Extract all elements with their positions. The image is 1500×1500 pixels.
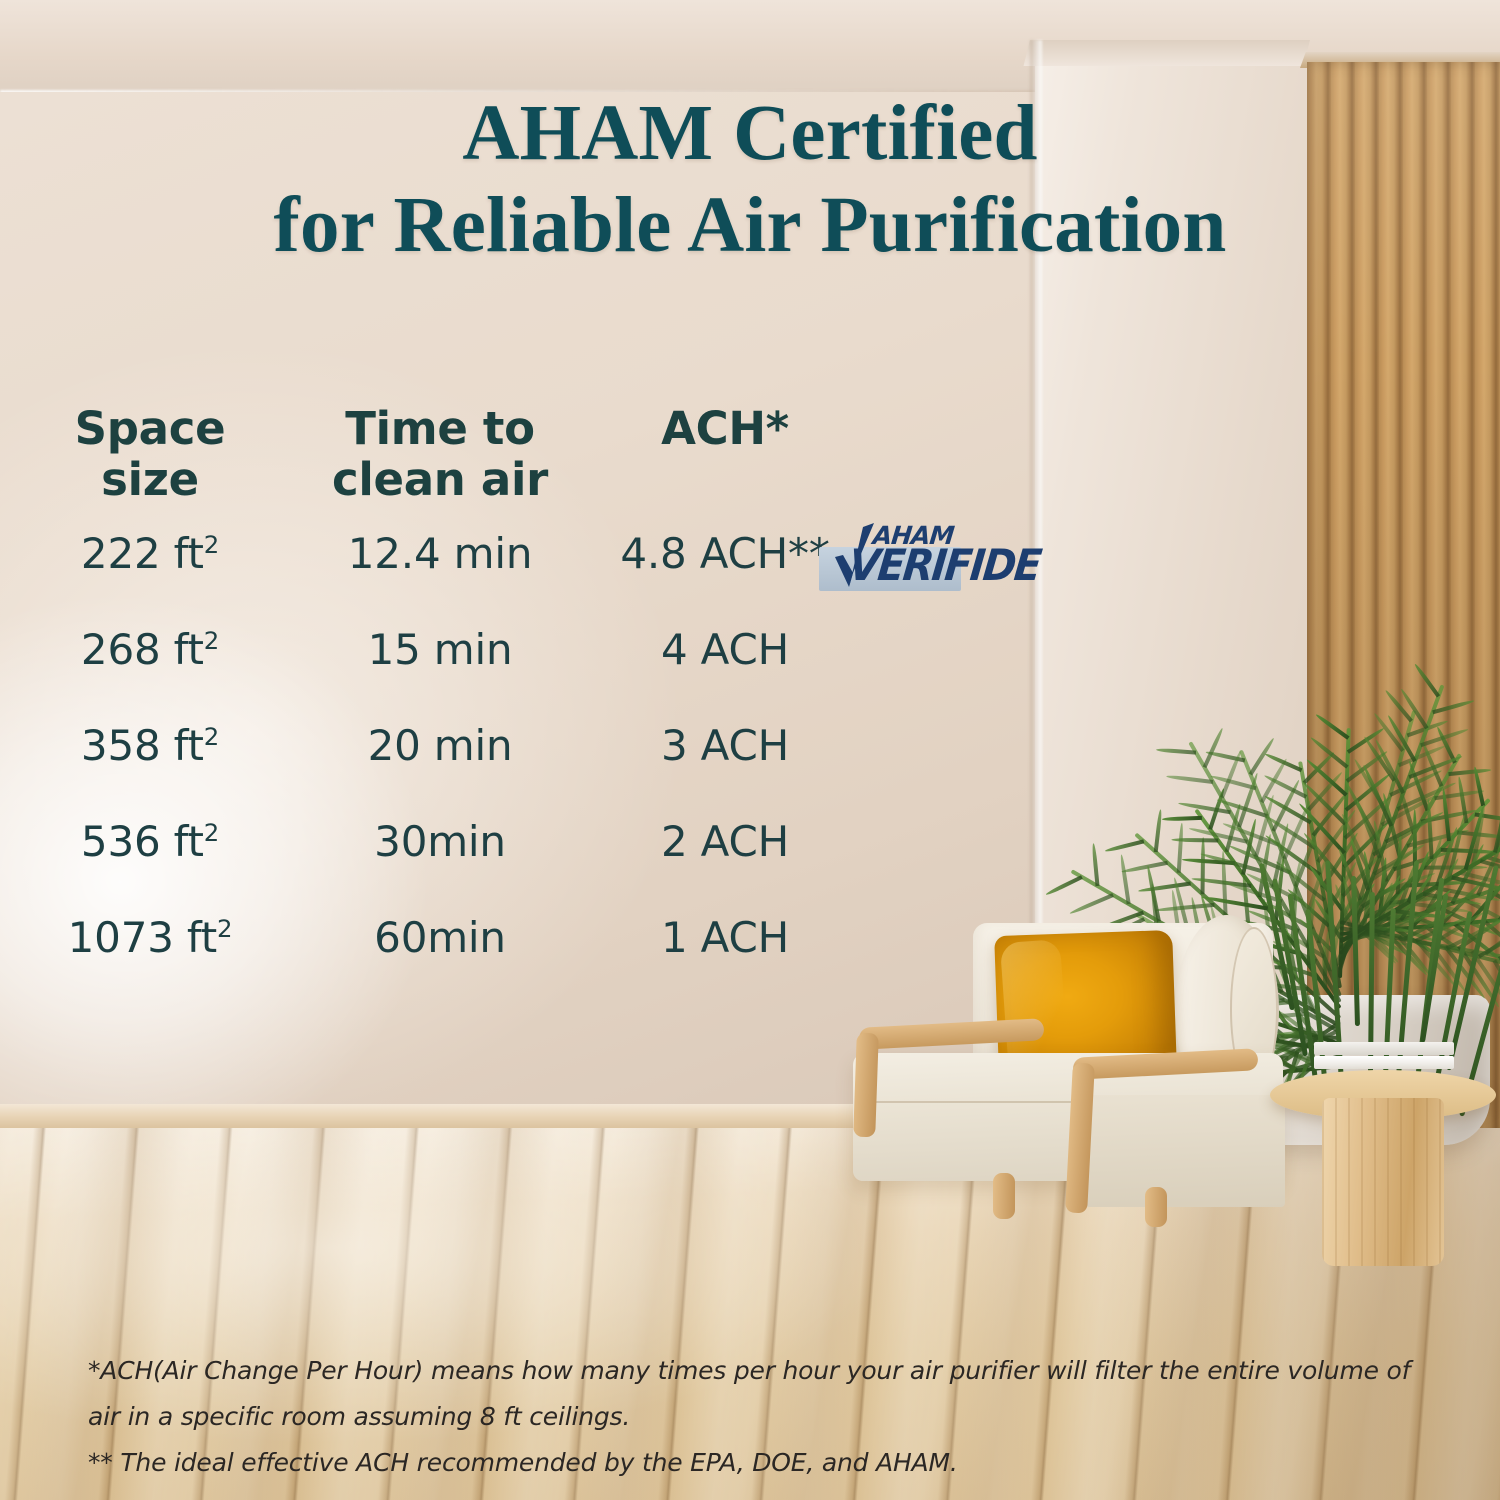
- specs-table: Space size Time to clean air ACH* 222 ft…: [0, 404, 1040, 986]
- header-space-size-line2: size: [0, 455, 300, 506]
- palm-leaflet: [1203, 727, 1225, 768]
- cell-time-value: 20 min: [368, 721, 513, 770]
- palm-leaflet: [1105, 839, 1145, 853]
- cell-space-size: 1073 ft2: [0, 890, 300, 986]
- palm-leaflet: [1265, 753, 1303, 773]
- header-time-line1: Time to: [300, 404, 580, 455]
- cell-time-to-clean: 20 min: [300, 698, 580, 794]
- title-line-2: for Reliable Air Purification: [0, 180, 1500, 272]
- palm-leaflet: [1310, 736, 1349, 768]
- table-row: 1073 ft260min1 ACH: [0, 890, 1040, 986]
- column-header-time-to-clean: Time to clean air: [300, 404, 580, 506]
- chair-leg-front: [993, 1173, 1015, 1219]
- cell-space-size-value: 222 ft2: [81, 529, 219, 578]
- table-row: 536 ft230min2 ACH: [0, 794, 1040, 890]
- cell-time-to-clean: 60min: [300, 890, 580, 986]
- cell-time-value: 60min: [374, 913, 506, 962]
- column-header-ach: ACH*: [580, 404, 870, 506]
- palm-leaflet: [1092, 843, 1100, 886]
- cell-space-size: 358 ft2: [0, 698, 300, 794]
- palm-leaflet: [1414, 663, 1441, 698]
- cell-ach-value: 4 ACH: [661, 625, 789, 674]
- cell-time-value: 12.4 min: [348, 529, 532, 578]
- palm-leaflet: [1448, 768, 1491, 776]
- chair-base: [1085, 1095, 1285, 1207]
- palm-leaflet: [1493, 793, 1500, 853]
- table-row: 358 ft220 min3 ACH: [0, 698, 1040, 794]
- table-row: 268 ft215 min4 ACH: [0, 602, 1040, 698]
- footnotes: *ACH(Air Change Per Hour) means how many…: [88, 1348, 1448, 1486]
- palm-leaflet: [1156, 748, 1196, 755]
- cell-ach-value: 2 ACH: [661, 817, 789, 866]
- side-table-grain: [1322, 1098, 1444, 1266]
- recess-soffit: [1024, 40, 1310, 66]
- palm-leaflet: [1177, 823, 1184, 873]
- aham-verifide-badge: AHAM VERIFIDE: [815, 515, 965, 603]
- cell-ach-value: 4.8 ACH**: [620, 529, 829, 578]
- cell-time-value: 15 min: [368, 625, 513, 674]
- palm-leaflet: [1119, 854, 1130, 904]
- book-bottom: [1314, 1056, 1454, 1069]
- cell-space-size: 268 ft2: [0, 602, 300, 698]
- cell-time-to-clean: 30min: [300, 794, 580, 890]
- palm-leaflet: [1427, 798, 1434, 858]
- cell-space-size-value: 1073 ft2: [68, 913, 233, 962]
- footnote-line-1: *ACH(Air Change Per Hour) means how many…: [88, 1348, 1448, 1394]
- palm-leaflet: [1121, 860, 1168, 873]
- cell-ach-value: 3 ACH: [661, 721, 789, 770]
- cell-time-to-clean: 15 min: [300, 602, 580, 698]
- cell-space-size-value: 536 ft2: [81, 817, 219, 866]
- palm-leaflet: [1154, 809, 1163, 852]
- cell-space-size-value: 268 ft2: [81, 625, 219, 674]
- page-title: AHAM Certified for Reliable Air Purifica…: [0, 88, 1500, 273]
- cell-ach: 4 ACH: [580, 602, 870, 698]
- badge-verifide-text: VERIFIDE: [846, 541, 1042, 591]
- palm-leaflet: [1137, 882, 1190, 894]
- palm-leaflet: [1162, 816, 1202, 821]
- cell-ach-value: 1 ACH: [661, 913, 789, 962]
- chair-leg-back: [1145, 1187, 1167, 1227]
- palm-leaflet: [1177, 801, 1230, 814]
- cell-ach: 1 ACH: [580, 890, 870, 986]
- footnote-line-2: air in a specific room assuming 8 ft cei…: [88, 1394, 1448, 1440]
- book-top: [1314, 1042, 1454, 1055]
- title-line-1: AHAM Certified: [462, 90, 1037, 177]
- header-time-line2: clean air: [300, 455, 580, 506]
- palm-leaflet: [1315, 713, 1350, 740]
- cell-time-to-clean: 12.4 min: [300, 506, 580, 602]
- palm-leaflet: [1200, 837, 1205, 894]
- column-header-space-size: Space size: [0, 404, 300, 506]
- side-table: [1270, 1070, 1500, 1310]
- footnote-line-3: ** The ideal effective ACH recommended b…: [88, 1440, 1448, 1486]
- chair-arm-post-left: [853, 1033, 879, 1138]
- palm-leaflet: [1167, 775, 1214, 785]
- cell-space-size: 222 ft2: [0, 506, 300, 602]
- cell-space-size: 536 ft2: [0, 794, 300, 890]
- header-space-size-line1: Space: [0, 404, 300, 455]
- cell-space-size-value: 358 ft2: [81, 721, 219, 770]
- cell-ach: 2 ACH: [580, 794, 870, 890]
- cell-ach: 3 ACH: [580, 698, 870, 794]
- cell-time-value: 30min: [374, 817, 506, 866]
- palm-leaflet: [1046, 875, 1084, 896]
- table-header-row: Space size Time to clean air ACH*: [0, 404, 1040, 506]
- palm-leaflet: [1432, 699, 1475, 714]
- ad-creative-canvas: AHAM Certified for Reliable Air Purifica…: [0, 0, 1500, 1500]
- header-ach-line1: ACH*: [580, 404, 870, 455]
